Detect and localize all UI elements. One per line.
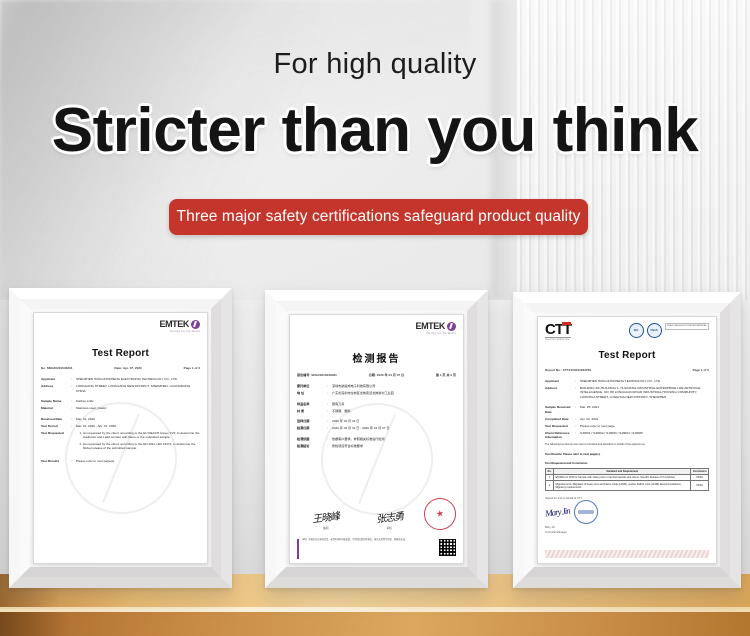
emtek-mark-icon bbox=[191, 320, 200, 329]
footer-accent-bar bbox=[297, 539, 299, 559]
document-watermark bbox=[65, 402, 177, 514]
cell-standard: Migration limit / Migration of heavy ion… bbox=[554, 481, 691, 490]
field-value: 广东省深圳市龙岗区龙岗街道龙岗新村工业园 bbox=[332, 391, 456, 395]
signature-mark: 王晓峰 bbox=[311, 507, 340, 525]
field-label: Address bbox=[41, 384, 71, 393]
field-label: Client Reference Information bbox=[545, 431, 575, 440]
signature-role: 编制 bbox=[323, 526, 328, 530]
signature-block: 王晓峰 编制 bbox=[297, 509, 355, 530]
document-title: 检测报告 bbox=[297, 350, 456, 365]
document-title: Test Report bbox=[41, 348, 200, 359]
field-label: Sample Received Date bbox=[545, 405, 575, 414]
page-title: Stricter than you think bbox=[0, 98, 750, 164]
ctt-logo: CTT TESTING SERVICES bbox=[545, 323, 571, 341]
field-value: Mar. 25, 2021 bbox=[580, 405, 709, 414]
ctt-logo-text: CTT bbox=[545, 323, 571, 337]
field-label: 材 质 bbox=[297, 409, 327, 413]
field-label: Material bbox=[41, 406, 71, 410]
table-heading: Test Requested and Conclusion bbox=[545, 461, 709, 465]
certificate-document-ctt: CTT TESTING SERVICES ISO CNAS PUBLIC WEL… bbox=[537, 316, 717, 564]
tagline-text: Three major safety certifications safegu… bbox=[177, 208, 581, 226]
field-label: Test Requested bbox=[545, 424, 575, 428]
field-value: Apr. 02, 2021 bbox=[580, 417, 709, 421]
signer-role: Technical Manager bbox=[545, 531, 615, 534]
results-heading: Test Results: Please refer to next page(… bbox=[545, 452, 709, 456]
report-number: No. SDG20210046301 bbox=[41, 366, 72, 370]
signature-area: Signed for and on behalf of CTT Mary Jin… bbox=[545, 495, 615, 534]
field-label: Completed Date bbox=[545, 417, 575, 421]
field-label: Test Period bbox=[41, 424, 71, 428]
field-value: Kitchen knife bbox=[76, 399, 200, 403]
emtek-logo-tagline: Testing for the World bbox=[426, 332, 456, 335]
page-number: Page 1 of 3 bbox=[184, 366, 200, 370]
results-table: No. Standard and Requirement Conclusion … bbox=[545, 468, 709, 491]
document-fields: Applicant:SHENZHEN HANGJUNCHENG TECHNOLO… bbox=[545, 379, 709, 440]
certificate-document-emtek-cn: EMTEK Testing for the World 检测报告 报告编号: S… bbox=[289, 314, 464, 564]
report-date: Date: Apr. 07, 2020 bbox=[114, 366, 141, 370]
field-label: 送样日期 bbox=[297, 419, 327, 423]
emtek-logo-tagline: Testing for the World bbox=[170, 330, 200, 333]
emtek-logo: EMTEK Testing for the World bbox=[415, 321, 456, 335]
field-label: Sample Name bbox=[41, 399, 71, 403]
certificate-frame-emtek-en: EMTEK Testing for the World Test Report … bbox=[9, 288, 232, 588]
banner-image: For high quality Stricter than you think… bbox=[0, 0, 750, 636]
emtek-logo: EMTEK Testing for the World bbox=[159, 319, 200, 333]
signature-block: 张志勇 审核 bbox=[361, 509, 419, 530]
field-label: 委托单位 bbox=[297, 384, 327, 388]
official-red-stamp-icon bbox=[422, 496, 458, 532]
document-footer: 声明：本报告仅对来样负责；未经本机构书面批准，不得部分复制本报告；报告无检测专用… bbox=[297, 539, 456, 559]
iso-seal-icon: ISO bbox=[629, 323, 644, 338]
page-number: Page 1 of 5 bbox=[693, 368, 709, 372]
summary-note: The following test item(s) was (were) su… bbox=[545, 443, 709, 447]
field-value: SHENZHEN HANGJUNCHENG ELECTRONIC TECHNOL… bbox=[76, 377, 200, 381]
report-date: 日期: 2020 年 04 月 07 日 bbox=[369, 372, 404, 377]
kicker-text: For high quality bbox=[0, 48, 750, 81]
document-title: Test Report bbox=[545, 350, 709, 361]
field-label: Received Date bbox=[41, 417, 71, 421]
signer-name: Mary Jin bbox=[545, 526, 615, 529]
accreditation-seals: ISO CNAS PUBLIC WELDS FOR TESTING SERVIC… bbox=[629, 323, 710, 338]
field-label: Address bbox=[545, 386, 575, 399]
field-label: Applicant bbox=[41, 377, 71, 381]
emtek-logo-text: EMTEK bbox=[415, 321, 445, 331]
cell-conclusion: PASS bbox=[691, 481, 709, 490]
field-value: LONGGANG STREET, LONGGANG NEW DISTRICT, … bbox=[76, 384, 200, 393]
field-label: 地 址 bbox=[297, 391, 327, 395]
certificate-frame-ctt: CTT TESTING SERVICES ISO CNAS PUBLIC WEL… bbox=[513, 292, 741, 588]
security-strip bbox=[545, 550, 709, 558]
field-label: 样品名称 bbox=[297, 402, 327, 406]
seal-note-text: PUBLIC WELDS FOR TESTING SERVICES bbox=[665, 323, 710, 330]
field-value: BUILDING 3/F, BUILDING 1, HUAXIANG INDUS… bbox=[580, 386, 709, 399]
signature-role: 审核 bbox=[387, 526, 392, 530]
official-blue-stamp-icon bbox=[574, 500, 598, 524]
cell-no: 2 bbox=[546, 481, 554, 490]
field-label: Applicant bbox=[545, 379, 575, 383]
footer-disclaimer: 声明：本报告仅对来样负责；未经本机构书面批准，不得部分复制本报告；报告无检测专用… bbox=[302, 539, 436, 542]
emtek-mark-icon bbox=[447, 322, 456, 331]
report-number: Report No.: CTT2103012233760 bbox=[545, 368, 591, 372]
field-value: 深圳市航骏成电子科技有限公司 bbox=[332, 384, 456, 388]
signature-mark: 张志勇 bbox=[375, 507, 404, 525]
certificate-document-emtek-en: EMTEK Testing for the World Test Report … bbox=[33, 312, 208, 564]
tagline-banner: Three major safety certifications safegu… bbox=[169, 199, 588, 235]
shelf-front-face bbox=[0, 612, 750, 636]
qr-code-icon bbox=[439, 539, 456, 556]
cnas-seal-icon: CNAS bbox=[647, 323, 662, 338]
signature-mark: Mary Jin bbox=[544, 506, 570, 519]
signature-area: 王晓峰 编制 张志勇 审核 bbox=[297, 498, 456, 530]
emtek-logo-text: EMTEK bbox=[159, 319, 189, 329]
field-label: 检测日期 bbox=[297, 426, 327, 430]
field-value: SJ0001 / SJ0002 / SJ0003 / SJ0004 / SJ00… bbox=[580, 431, 709, 440]
table-row: 2 Migration limit / Migration of heavy i… bbox=[546, 481, 709, 490]
page-number: 第 1 页 共 3 页 bbox=[436, 372, 456, 377]
certificate-frame-emtek-cn: EMTEK Testing for the World 检测报告 报告编号: S… bbox=[265, 290, 488, 588]
field-value: Please refer to next page bbox=[580, 424, 709, 428]
report-number: 报告编号: SDG20210046301 bbox=[297, 372, 337, 377]
field-value: SHENZHEN HANGJUNCHENG TECHNOLOGY CO., LT… bbox=[580, 379, 709, 383]
